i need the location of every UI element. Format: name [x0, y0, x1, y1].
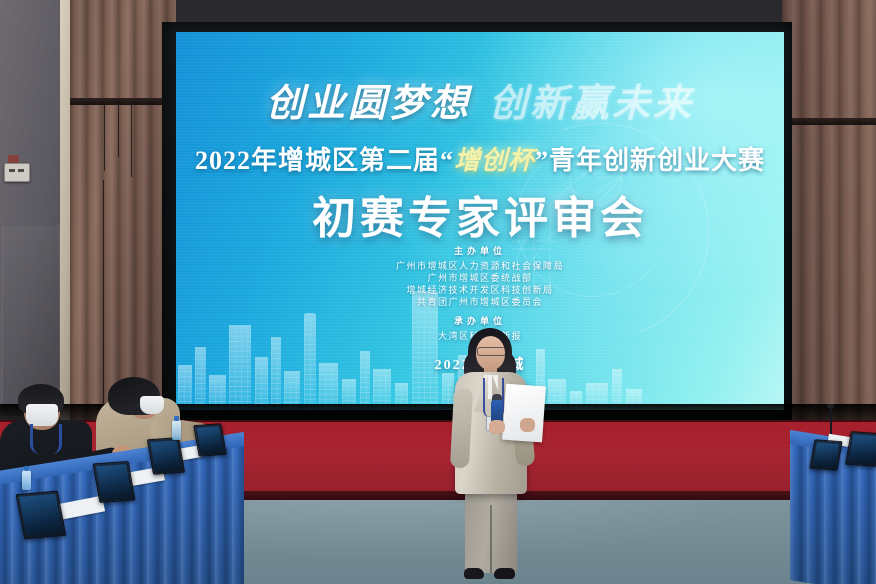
laptop: [193, 423, 227, 456]
script-papers: [502, 384, 546, 443]
laptop: [16, 491, 67, 540]
slogan-phrase-1: 创业圆梦想: [266, 83, 471, 125]
laptop: [92, 461, 135, 503]
shoe-right: [494, 568, 515, 579]
organizer-item: 广州市增城区委统战部: [176, 272, 784, 284]
host-heading: 承办单位: [176, 314, 784, 327]
laptop: [147, 437, 185, 475]
stage-curtain-left: [70, 0, 176, 420]
hand-right: [520, 418, 535, 432]
organizers-heading: 主办单位: [176, 244, 784, 257]
face-mask: [140, 396, 164, 414]
organizer-item: 共青团广州市增城区委员会: [176, 296, 784, 308]
stage-curtain-right: [782, 0, 876, 420]
quote-open: “: [440, 146, 454, 175]
slogan-phrase-2: 创新赢未来: [489, 83, 694, 125]
hand-left: [489, 420, 505, 434]
curtain-rail-right: [782, 118, 876, 125]
curtain-cord: [118, 105, 119, 157]
conference-room-photo: 创业圆梦想创新赢未来 2022年增城区第二届“增创杯”青年创新创业大赛 初赛专家…: [0, 0, 876, 584]
cup-name: 增创杯: [454, 146, 535, 175]
laptop: [845, 431, 876, 467]
shoe-left: [464, 568, 484, 579]
microphone-stand: [830, 408, 832, 434]
curtain-rail-left: [70, 98, 176, 105]
lanyard: [30, 424, 62, 454]
event-title-line: 2022年增城区第二届“增创杯”青年创新创业大赛: [176, 140, 784, 177]
slide-headline: 初赛专家评审会: [176, 182, 784, 246]
face-mask: [26, 404, 58, 426]
event-title-suffix: 青年创新创业大赛: [549, 146, 765, 175]
organizer-item: 增城经济技术开发区科技创新局: [176, 284, 784, 296]
quote-close: ”: [535, 146, 549, 175]
water-bottle: [172, 420, 181, 440]
laptop: [809, 439, 842, 471]
wall-power-outlet: [4, 163, 30, 182]
gray-wall-panel: [0, 0, 64, 420]
glasses: [477, 347, 506, 356]
water-bottle: [22, 470, 31, 490]
organizers-block: 主办单位 广州市增城区人力资源和社会保障局 广州市增城区委统战部 增城经济技术开…: [176, 244, 784, 308]
event-title-prefix: 2022年增城区第二届: [195, 146, 440, 175]
organizer-item: 广州市增城区人力资源和社会保障局: [176, 260, 784, 272]
slogan-calligraphy: 创业圆梦想创新赢未来: [176, 72, 784, 127]
trouser-seam: [490, 505, 492, 573]
microphone-head: [827, 404, 834, 408]
curtain-cord: [103, 180, 104, 410]
curtain-cord: [131, 105, 132, 177]
curtain-cord: [104, 105, 105, 171]
